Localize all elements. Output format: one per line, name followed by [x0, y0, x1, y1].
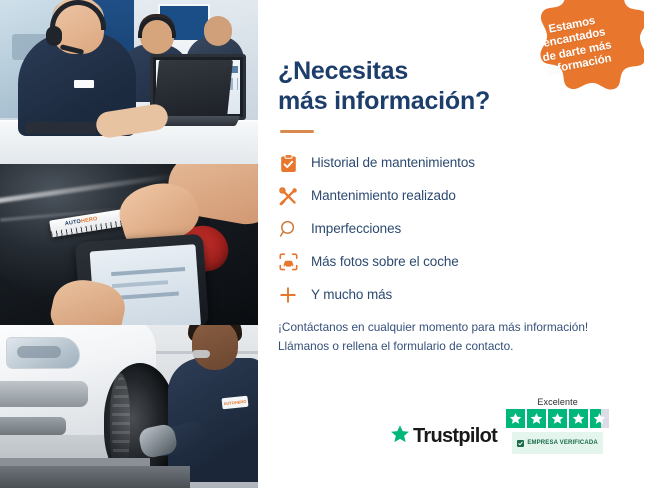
call-center-agents-photo: [0, 0, 258, 164]
car-grille-lower: [0, 417, 66, 435]
list-item-label: Más fotos sobre el coche: [311, 255, 459, 270]
feature-list: Historial de mantenimientos Mantenimient…: [278, 153, 628, 305]
mechanic-head: [192, 325, 238, 370]
headline-line-1: ¿Necesitas: [278, 57, 408, 85]
star-filled-1: [506, 409, 525, 428]
list-item: Mantenimiento realizado: [278, 186, 628, 206]
star-filled-2: [527, 409, 546, 428]
mechanic-wheel-photo: AUTOHERO: [0, 325, 258, 488]
list-item: Más fotos sobre el coche: [278, 252, 628, 272]
mechanic-body: [168, 358, 258, 482]
tablet-line-1: [111, 267, 185, 276]
list-item: Historial de mantenimientos: [278, 153, 628, 173]
content-panel: Estamos encantados de darte más informac…: [258, 0, 650, 488]
contact-line-2: Llámanos o rellena el formulario de cont…: [278, 339, 513, 353]
front-agent-name-tag: [74, 80, 94, 88]
magnifier-icon: [278, 219, 298, 239]
keyboard: [26, 122, 96, 134]
list-item-label: Mantenimiento realizado: [311, 189, 456, 204]
plus-icon: [278, 285, 298, 305]
front-agent-earcup: [46, 26, 62, 46]
verified-check-icon: [517, 434, 524, 452]
star-filled-4: [569, 409, 588, 428]
car-headlight: [6, 337, 80, 369]
star-filled-3: [548, 409, 567, 428]
car-grille-upper: [0, 381, 88, 407]
contact-text: ¡Contáctanos en cualquier momento para m…: [278, 318, 628, 357]
promo-badge: Estamos encantados de darte más informac…: [506, 0, 644, 110]
crossed-tools-icon: [278, 186, 298, 206]
trustpilot-rating[interactable]: Trustpilot Excelente: [390, 397, 609, 454]
list-item: Y mucho más: [278, 285, 628, 305]
safety-glasses: [192, 350, 210, 358]
trustpilot-rating-label: Excelente: [537, 397, 577, 407]
lift-arm: [0, 458, 150, 466]
car-lift-platform: [0, 466, 190, 488]
title-divider: [280, 130, 314, 133]
tablet-line-2: [112, 280, 168, 288]
photo-column: AUTOHERO: [0, 0, 258, 488]
list-item: Imperfecciones: [278, 219, 628, 239]
list-item-label: Imperfecciones: [311, 222, 401, 237]
trustpilot-wordmark: Trustpilot: [413, 425, 497, 448]
status-badge: EMPRESA VERIFICADA: [512, 432, 602, 454]
information-cta-banner: AUTOHERO: [0, 0, 650, 488]
contact-line-1: ¡Contáctanos en cualquier momento para m…: [278, 320, 588, 334]
trustpilot-star-icon: [390, 424, 410, 449]
trustpilot-score-block: Excelente: [506, 397, 609, 454]
verified-label: EMPRESA VERIFICADA: [527, 440, 597, 446]
list-item-label: Historial de mantenimientos: [311, 156, 475, 171]
background-person-head: [204, 16, 232, 46]
clipboard-check-icon: [278, 153, 298, 173]
trustpilot-logo[interactable]: Trustpilot: [390, 424, 497, 454]
page-title: ¿Necesitas más información?: [278, 56, 528, 116]
car-scan-icon: [278, 252, 298, 272]
list-item-label: Y mucho más: [311, 288, 392, 303]
trustpilot-stars: [506, 409, 609, 428]
vehicle-inspection-photo: AUTOHERO: [0, 164, 258, 325]
headline-line-2: más información?: [278, 87, 490, 115]
star-half-5: [590, 409, 609, 428]
